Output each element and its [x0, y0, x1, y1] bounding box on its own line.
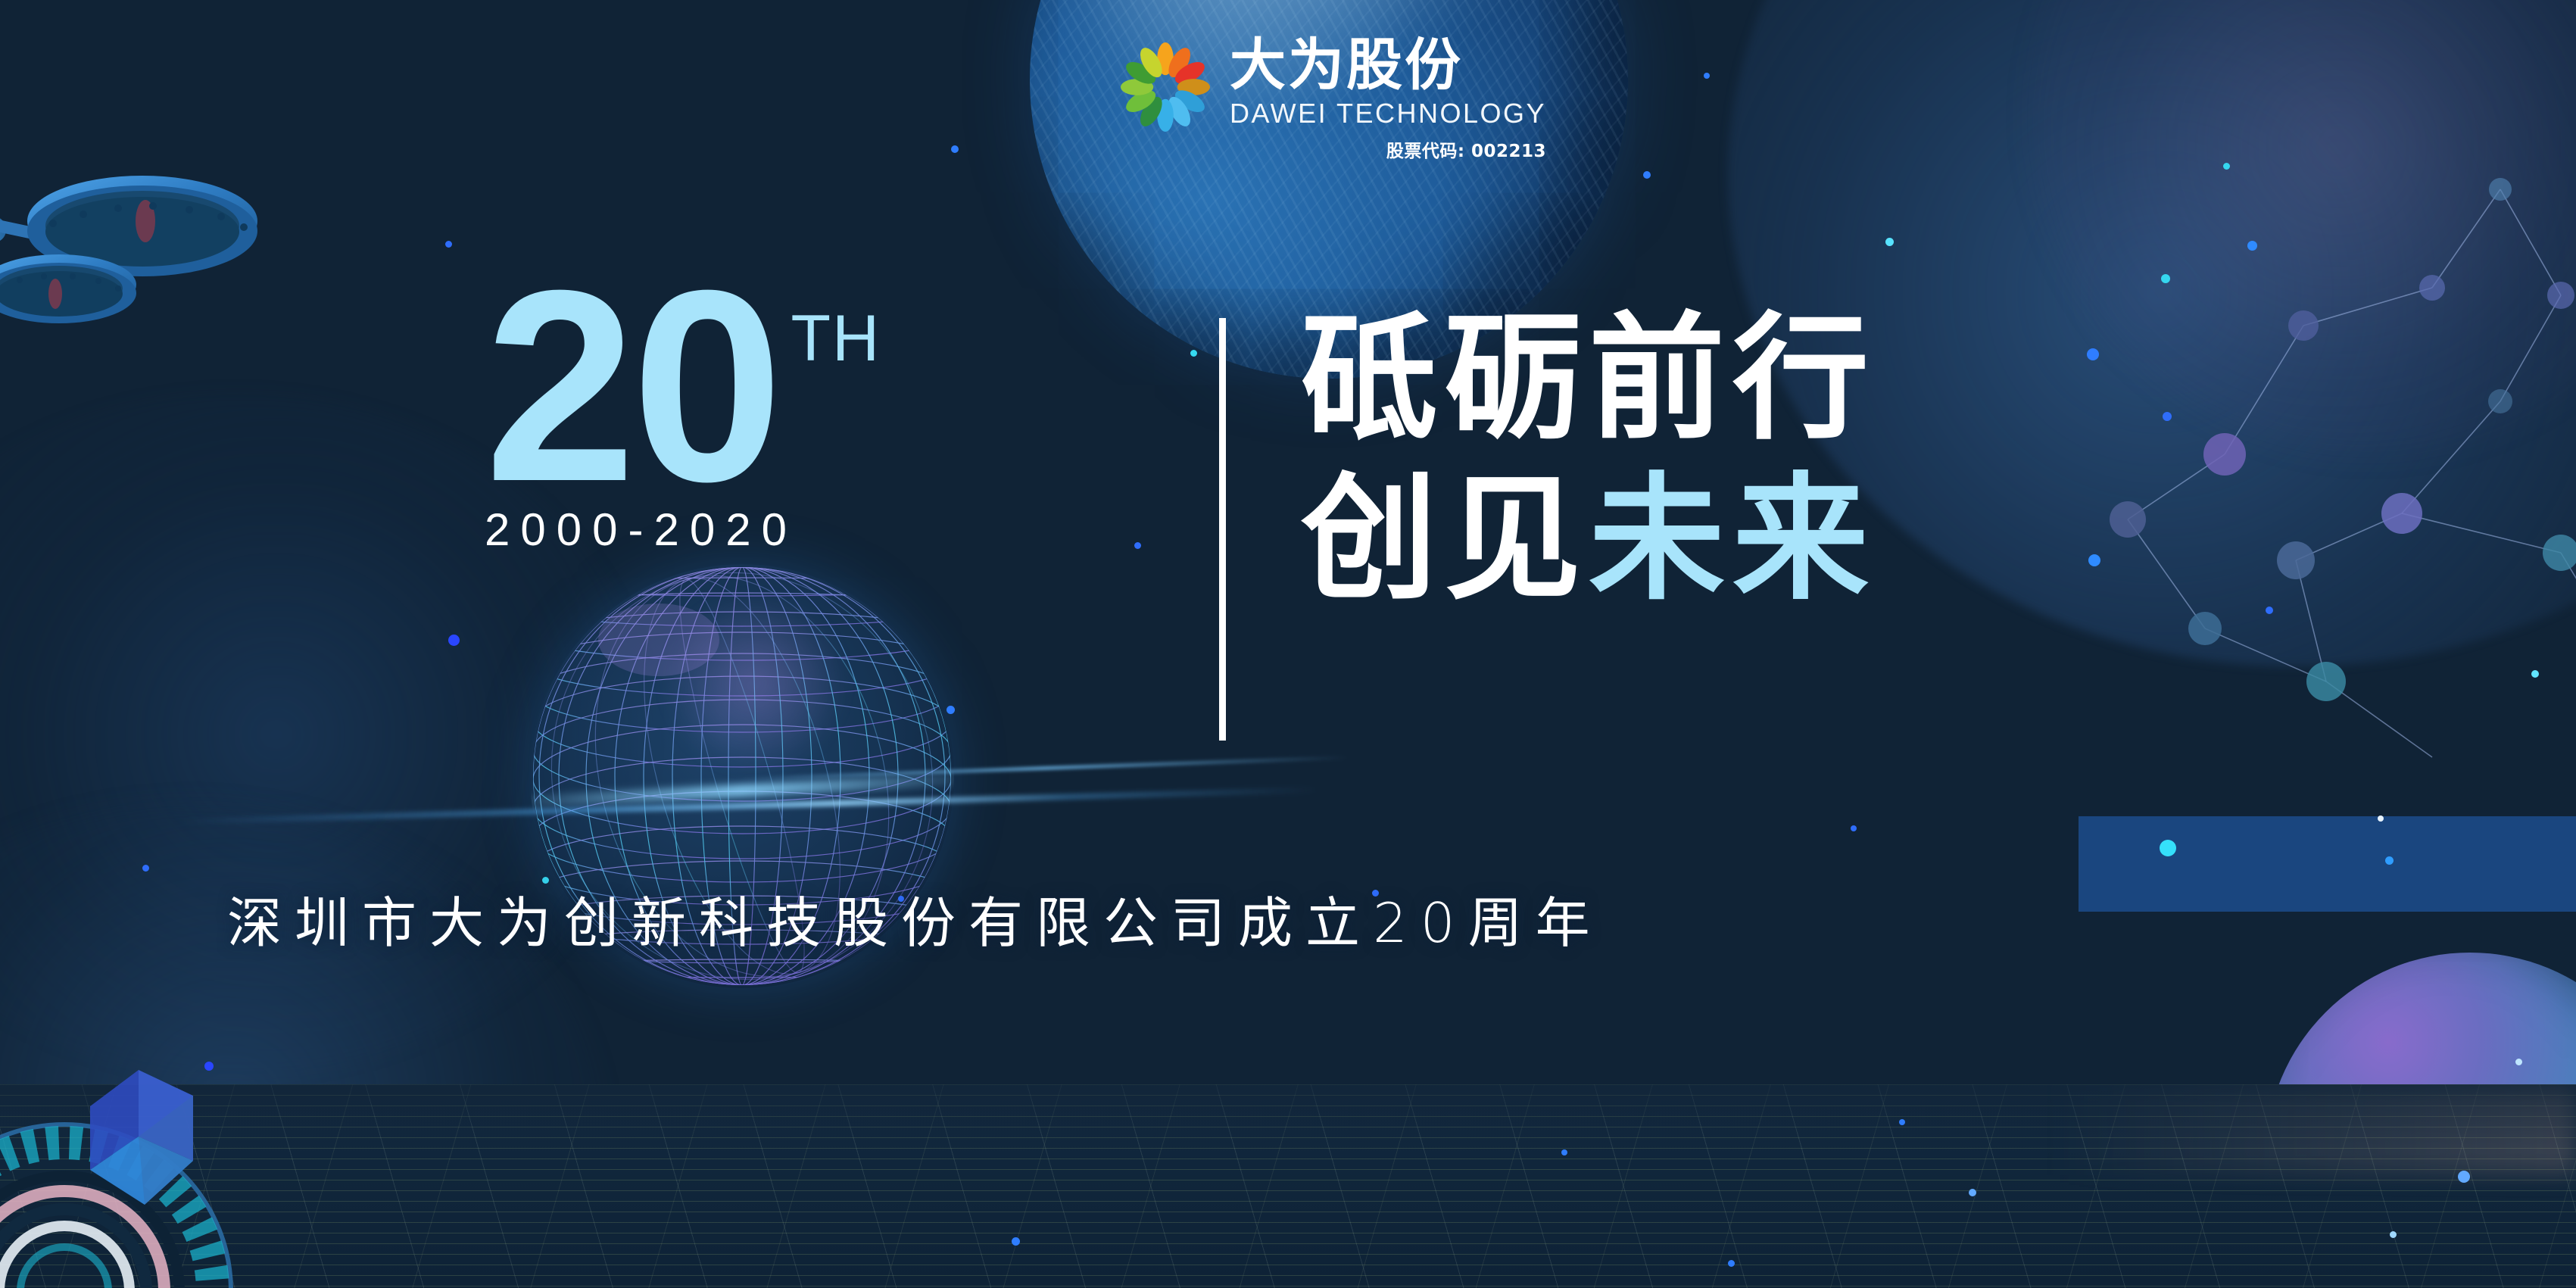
perspective-grid-floor [0, 1084, 2576, 1288]
star-dot [1851, 825, 1857, 831]
company-logo: 大为股份 DAWEI TECHNOLOGY 股票代码: 002213 [1121, 38, 1546, 162]
anniversary-ordinal-suffix: TH [791, 301, 881, 376]
star-dot [1134, 542, 1141, 549]
anniversary-number: 20 [485, 280, 778, 493]
headline-line-2: 创见未来 [1301, 460, 1876, 620]
anniversary-number-row: 20 TH [485, 280, 1106, 493]
star-dot [1885, 238, 1894, 246]
headline-line-2-white: 创见 [1301, 460, 1589, 619]
anniversary-poster: 大为股份 DAWEI TECHNOLOGY 股票代码: 002213 20 TH… [0, 0, 2576, 1288]
dawei-petal-flower-logo-icon [1121, 42, 1210, 132]
star-dot [951, 145, 959, 153]
anniversary-block: 20 TH 2000-2020 [485, 280, 1106, 556]
constellation-network [2076, 98, 2576, 765]
blue-rectangle-panel [2079, 816, 2576, 912]
logo-company-name-cn: 大为股份 [1230, 38, 1546, 93]
star-dot [445, 241, 452, 248]
blue-3d-cube [72, 1064, 223, 1230]
vertical-divider-line [1219, 318, 1226, 741]
grid-fade [0, 1084, 2576, 1288]
headline-block: 砥砺前行 创见未来 [1301, 299, 1876, 621]
logo-stock-code: 股票代码: 002213 [1386, 136, 1546, 162]
star-dot [142, 865, 149, 872]
star-dot [1704, 73, 1710, 79]
star-dot [1190, 350, 1197, 357]
star-dot [448, 635, 460, 646]
poster-subtitle: 深圳市大为创新科技股份有限公司成立20周年 [227, 878, 1603, 958]
logo-company-name-en: DAWEI TECHNOLOGY [1230, 98, 1546, 129]
star-dot [1643, 171, 1651, 179]
drone-illustration [0, 91, 371, 363]
headline-line-2-blue: 未来 [1589, 460, 1876, 619]
globe-highlight [657, 598, 853, 768]
logo-text-group: 大为股份 DAWEI TECHNOLOGY 股票代码: 002213 [1230, 38, 1546, 162]
headline-line-1: 砥砺前行 [1301, 299, 1876, 460]
anniversary-year-range: 2000-2020 [485, 504, 1106, 556]
